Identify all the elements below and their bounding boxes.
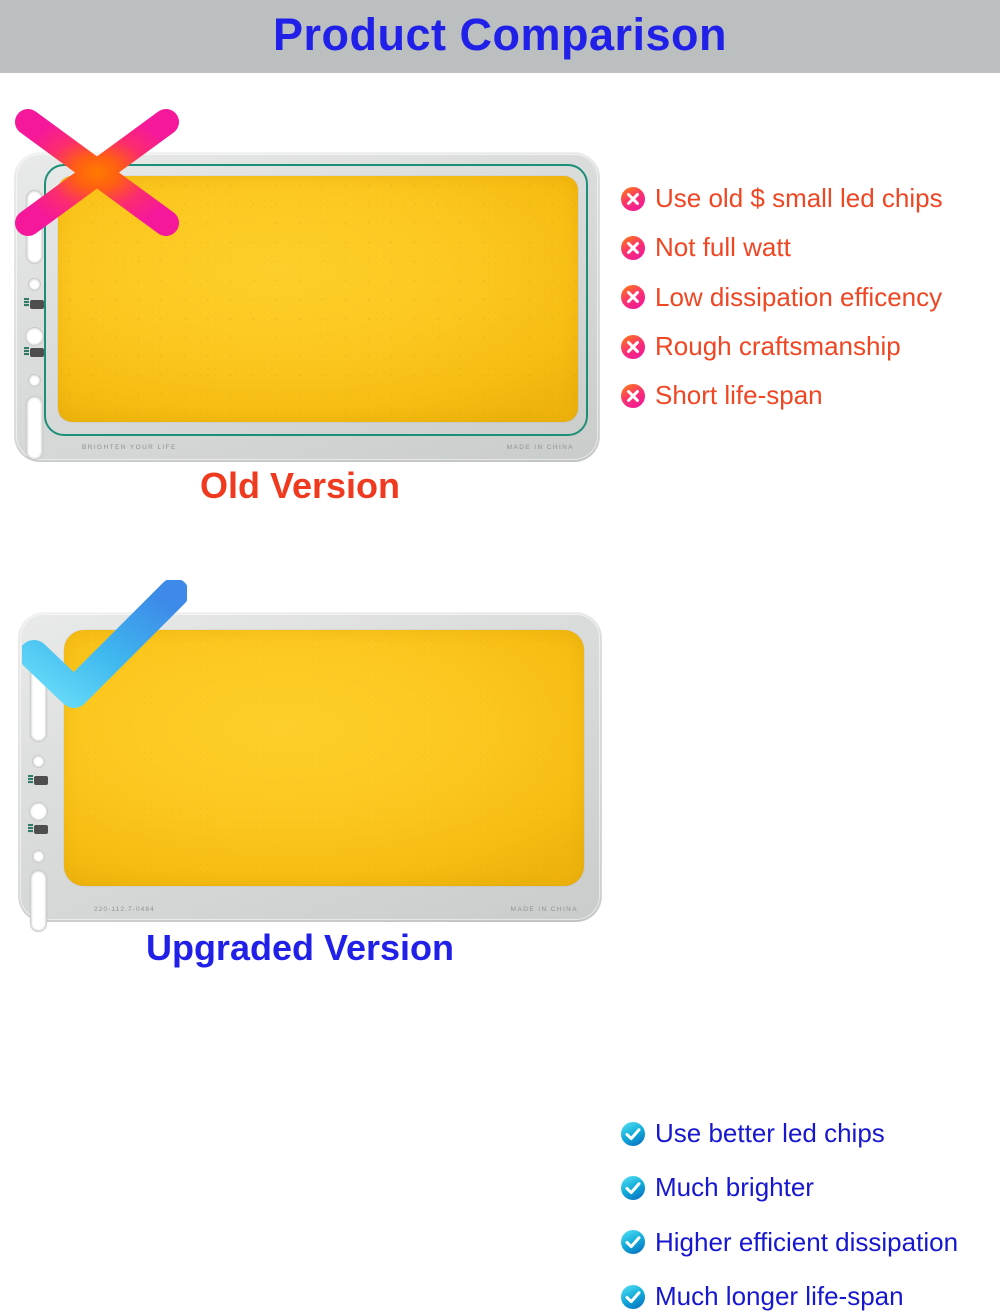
mounting-hole [25,327,44,346]
old-version-section: BRIGHTEN YOUR LIFE MADE IN CHINA Old Ver… [0,100,1000,520]
mounting-rail [18,612,62,922]
upgraded-led-panel: 220-112.7-0484 MADE IN CHINA [18,612,602,922]
cross-circle-icon [620,235,646,261]
solder-pad [28,824,33,833]
mounting-slot [26,396,43,460]
list-item: Much longer life-span [620,1283,1000,1310]
smd-component [34,825,48,834]
list-item: Low dissipation efficency [620,284,1000,311]
cross-circle-icon [620,186,646,212]
panel-silkscreen-left: BRIGHTEN YOUR LIFE [82,444,177,451]
list-item-label: Use old $ small led chips [655,185,943,212]
led-chip-grid-fine [58,176,578,422]
list-item: Much brighter [620,1174,1000,1201]
mounting-slot [26,190,43,264]
check-circle-icon [620,1284,646,1310]
cross-circle-icon [620,334,646,360]
phosphor-surface [58,176,578,422]
mounting-slot [30,662,47,742]
check-circle-icon [620,1229,646,1255]
solder-pad [24,347,29,356]
mounting-hole [32,850,45,863]
solder-pad [28,775,33,784]
list-item-label: Short life-span [655,382,823,409]
mounting-hole [28,278,41,291]
smd-component [34,776,48,785]
panel-silkscreen-right: MADE IN CHINA [511,906,578,913]
mounting-hole [28,374,41,387]
phosphor-surface [64,630,584,886]
panel-model-number: 220-112.7-0484 [94,906,155,913]
list-item-label: Not full watt [655,234,791,261]
header-band: Product Comparison [0,0,1000,73]
page-title: Product Comparison [273,12,727,61]
pros-feature-list: Use better led chips Much brighter Highe… [620,1120,1000,1310]
list-item: Rough craftsmanship [620,333,1000,360]
cons-feature-list: Use old $ small led chips Not full watt [620,185,1000,409]
list-item: Use old $ small led chips [620,185,1000,212]
check-circle-icon [620,1175,646,1201]
old-version-caption: Old Version [0,468,600,504]
list-item-label: Higher efficient dissipation [655,1229,958,1256]
list-item: Use better led chips [620,1120,1000,1147]
cross-circle-icon [620,383,646,409]
smd-component [30,348,44,357]
list-item-label: Use better led chips [655,1120,885,1147]
mounting-rail [14,152,58,462]
list-item-label: Rough craftsmanship [655,333,901,360]
upgraded-version-caption: Upgraded Version [0,930,600,966]
mounting-slot [30,870,47,932]
solder-pad [24,298,29,307]
cross-circle-icon [620,284,646,310]
list-item: Not full watt [620,234,1000,261]
list-item: Short life-span [620,382,1000,409]
check-circle-icon [620,1121,646,1147]
mounting-hole [29,802,48,821]
smd-component [30,300,44,309]
list-item-label: Much longer life-span [655,1283,904,1310]
mounting-hole [32,755,45,768]
list-item-label: Much brighter [655,1174,814,1201]
old-led-panel: BRIGHTEN YOUR LIFE MADE IN CHINA [14,152,600,462]
panel-silkscreen-right: MADE IN CHINA [507,444,574,451]
upgraded-version-section: 220-112.7-0484 MADE IN CHINA Upgraded Ve… [0,560,1000,980]
list-item-label: Low dissipation efficency [655,284,942,311]
list-item: Higher efficient dissipation [620,1229,1000,1256]
led-chip-grid-fine [64,630,584,886]
